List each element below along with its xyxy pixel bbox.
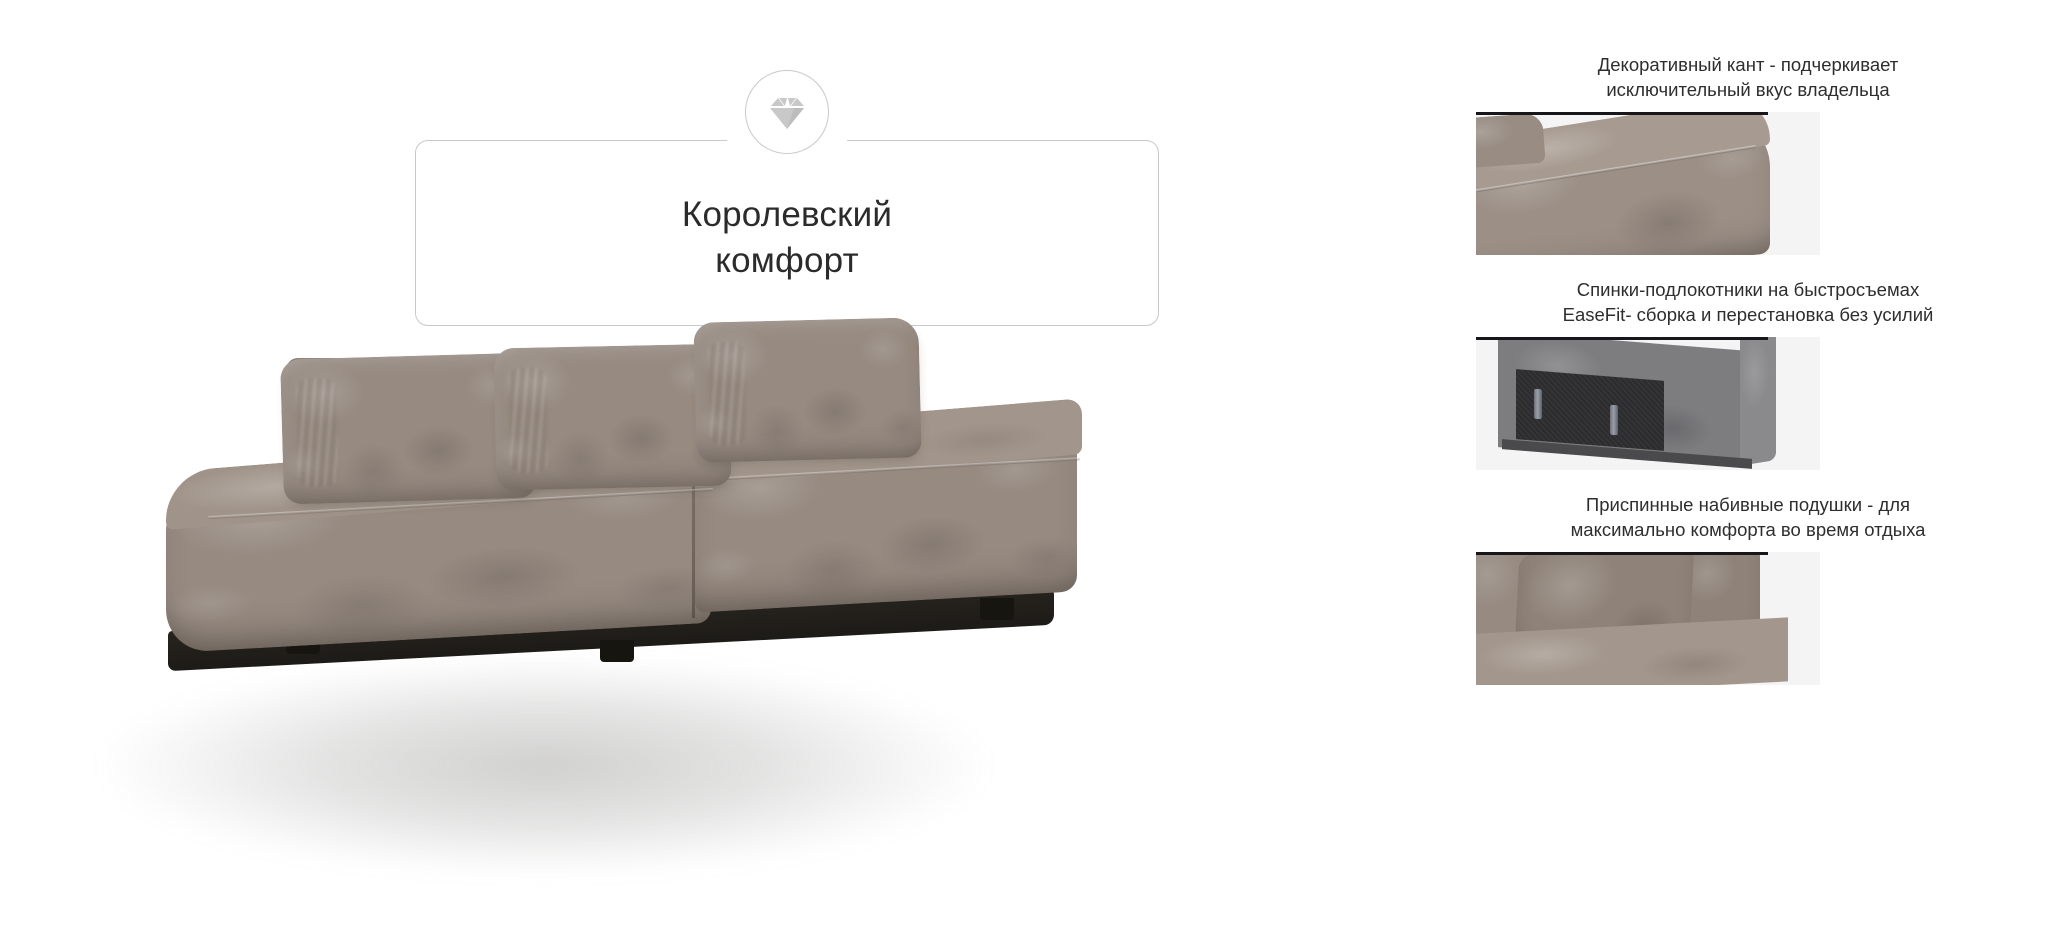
- sofa-back-cushion: [693, 317, 921, 462]
- diamond-emblem: [745, 70, 829, 154]
- product-promo-banner: Королевский комфорт Декоративный кант - …: [0, 0, 2048, 950]
- feature-thumbnail: [1476, 337, 1820, 470]
- feature-item: Приспинные набивные подушки - для максим…: [1448, 492, 2048, 685]
- feature-caption: Спинки-подлокотники на быстросъемах Ease…: [1448, 277, 2048, 327]
- quick-release-bracket: [1534, 389, 1542, 420]
- feature-thumbnail: [1476, 112, 1820, 255]
- feature-list: Декоративный кант - подчеркивает исключи…: [1448, 52, 2048, 707]
- quick-release-bracket: [1610, 405, 1618, 436]
- feature-thumbnail: [1476, 552, 1820, 685]
- corner-pillow: [1476, 113, 1546, 170]
- feature-accent-rule: [1476, 112, 1768, 115]
- feature-accent-rule: [1476, 552, 1768, 555]
- feature-item: Декоративный кант - подчеркивает исключи…: [1448, 52, 2048, 255]
- hero-sofa-image: [40, 350, 1100, 910]
- feature-item: Спинки-подлокотники на быстросъемах Ease…: [1448, 277, 2048, 470]
- sofa-foot: [980, 598, 1014, 620]
- sofa-back-side: [1740, 337, 1776, 466]
- feature-accent-rule: [1476, 337, 1768, 340]
- sofa-foot: [600, 640, 634, 662]
- feature-caption: Приспинные набивные подушки - для максим…: [1448, 492, 2048, 542]
- feature-caption: Декоративный кант - подчеркивает исключи…: [1448, 52, 2048, 102]
- page-title: Королевский комфорт: [415, 192, 1159, 284]
- cushion-crease: [707, 341, 746, 445]
- diamond-icon: [764, 89, 810, 135]
- cushion-crease: [296, 378, 339, 486]
- cushion-crease: [508, 367, 548, 473]
